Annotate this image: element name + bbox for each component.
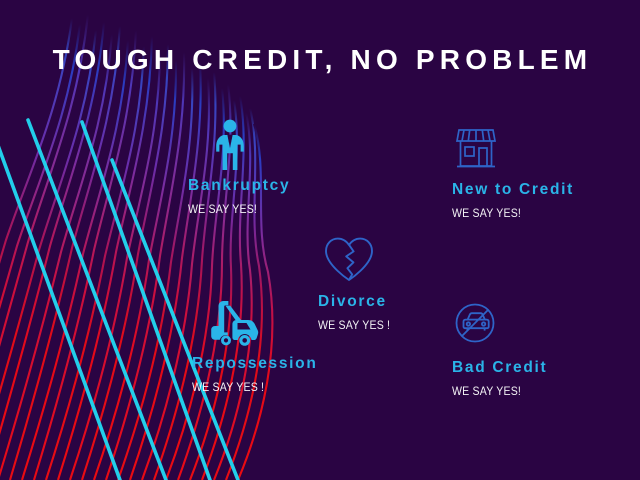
benefit-label: Bad Credit — [452, 360, 547, 376]
benefit-new-to-credit: New to Credit WE SAY YES! — [452, 122, 574, 220]
slide-canvas: TOUGH CREDIT, NO PROBLEM Bankruptcy WE S… — [0, 0, 640, 480]
benefit-subtext: WE SAY YES! — [452, 209, 564, 221]
tow-truck-icon — [192, 296, 318, 350]
benefit-bad-credit: Bad Credit WE SAY YES! — [452, 300, 547, 398]
benefit-subtext: WE SAY YES! — [188, 205, 282, 217]
storefront-icon — [452, 122, 574, 176]
benefit-repossession: Repossession WE SAY YES ! — [192, 296, 318, 394]
broken-heart-icon — [318, 234, 396, 288]
benefit-subtext: WE SAY YES ! — [192, 383, 307, 395]
page-title: TOUGH CREDIT, NO PROBLEM — [0, 44, 640, 76]
benefit-label: Repossession — [192, 356, 318, 372]
no-car-icon — [452, 300, 547, 354]
benefit-label: Divorce — [318, 294, 396, 310]
benefit-bankruptcy: Bankruptcy WE SAY YES! — [188, 118, 290, 216]
benefit-label: New to Credit — [452, 182, 574, 198]
benefit-label: Bankruptcy — [188, 178, 290, 194]
person-icon — [188, 118, 290, 172]
benefit-subtext: WE SAY YES! — [452, 387, 540, 399]
benefit-subtext: WE SAY YES ! — [318, 321, 390, 333]
benefit-divorce: Divorce WE SAY YES ! — [318, 234, 396, 332]
